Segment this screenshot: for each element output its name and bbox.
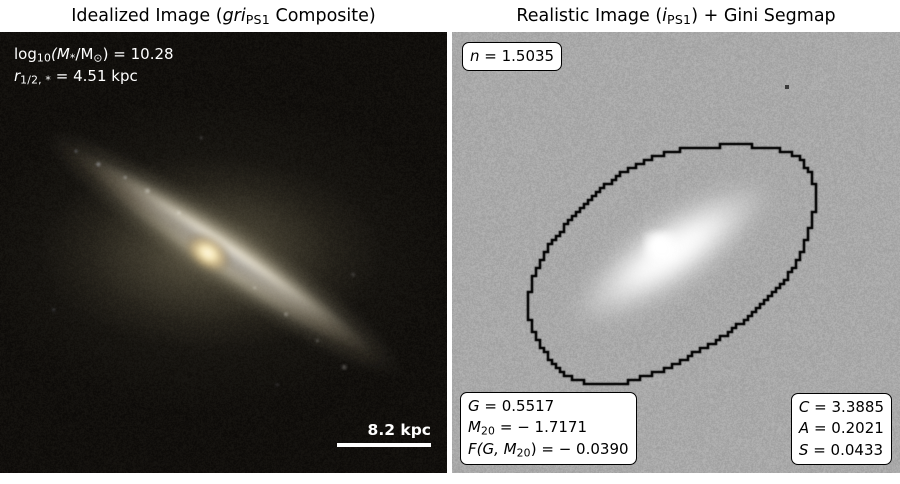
gini-m20-stats-box: G = 0.5517 M20 = − 1.7171 F(G, M20) = − …: [460, 392, 637, 465]
panel-realistic-image: n = 1.5035 G = 0.5517 M20 = − 1.7171 F(G…: [452, 32, 900, 473]
title-subscript-ps1-right: PS1: [667, 12, 691, 27]
title-italic-gri: gri: [223, 6, 246, 26]
asymmetry-row: A = 0.2021: [799, 418, 884, 439]
smoothness-row: S = 0.0433: [799, 440, 884, 461]
figure-root: Idealized Image (griPS1 Composite) Reali…: [0, 0, 900, 484]
f-gini-m20-row: F(G, M20) = − 0.0390: [468, 439, 629, 461]
scalebar-label: 8.2 kpc: [368, 421, 431, 439]
concentration-row: C = 3.3885: [799, 397, 884, 418]
stellar-mass-label: log10(M*/M⊙) = 10.28: [14, 44, 174, 66]
title-subscript-ps1: PS1: [246, 12, 270, 27]
panel-title-realistic: Realistic Image (iPS1) + Gini Segmap: [452, 2, 900, 30]
scalebar-line: [337, 443, 431, 447]
panel-idealized-image: log10(M*/M⊙) = 10.28 r1/2, * = 4.51 kpc …: [0, 32, 447, 473]
gini-value-row: G = 0.5517: [468, 396, 629, 417]
m20-value-row: M20 = − 1.7171: [468, 417, 629, 439]
cas-stats-box: C = 3.3885 A = 0.2021 S = 0.0433: [791, 393, 892, 465]
panel-title-idealized: Idealized Image (griPS1 Composite): [0, 2, 447, 30]
idealized-annotations: log10(M*/M⊙) = 10.28 r1/2, * = 4.51 kpc: [14, 44, 174, 89]
sersic-index-box: n = 1.5035: [462, 42, 562, 71]
half-light-radius-label: r1/2, * = 4.51 kpc: [14, 66, 174, 88]
idealized-image-noise: [0, 32, 447, 473]
